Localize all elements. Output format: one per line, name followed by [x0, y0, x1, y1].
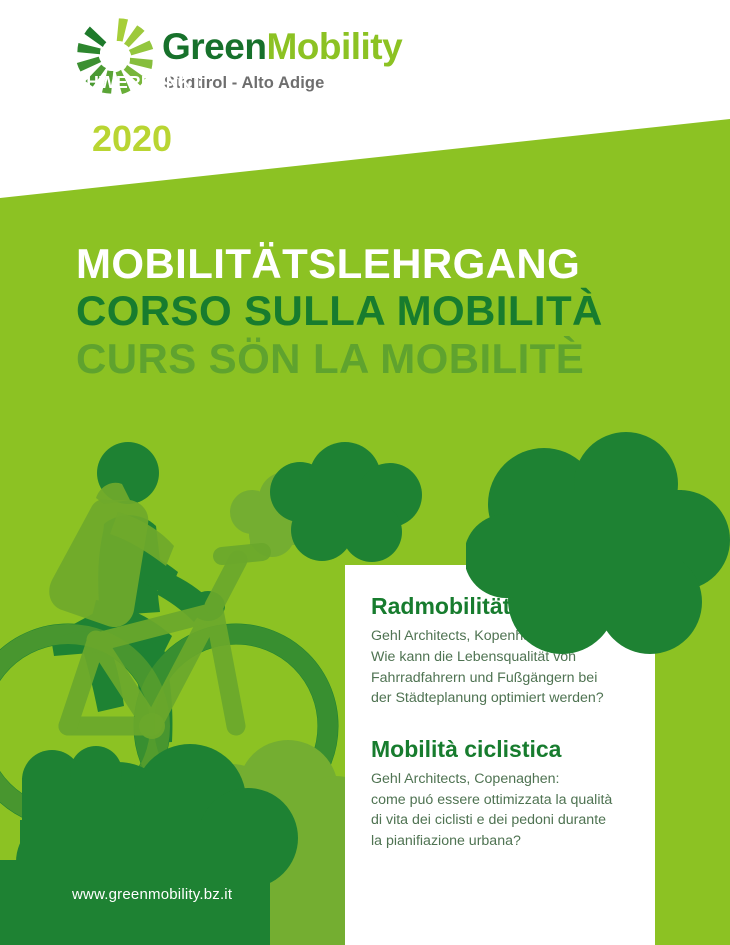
card-body-german-line-3: Fahrradfahrern und Fußgängern bei — [371, 668, 629, 689]
title-block: MOBILITÄTSLEHRGANG CORSO SULLA MOBILITÀ … — [76, 240, 603, 382]
card-body-italian-line-1: Gehl Architects, Copenaghen: — [371, 769, 629, 790]
bike-handlebar-icon — [222, 552, 262, 556]
poster-root: GreenMobility Südtirol - Alto Adige MOBI… — [0, 0, 730, 945]
card-body-italian-line-3: di vita dei ciclisti e dei pedoni durant… — [371, 810, 629, 831]
card-body-german-line-4: der Städteplanung optimiert werden? — [371, 688, 629, 709]
card-body-italian-line-2: come puó essere ottimizzata la qualità — [371, 790, 629, 811]
title-italian: CORSO SULLA MOBILITÀ — [76, 287, 603, 334]
website-url[interactable]: www.greenmobility.bz.it — [72, 886, 232, 903]
card-heading-italian: Mobilità ciclistica — [371, 736, 629, 762]
title-ladin: CURS SÖN LA MOBILITÈ — [76, 335, 603, 382]
bush-dark-small-icon — [22, 746, 122, 828]
card-body-italian-line-4: la pianifiazione urbana? — [371, 831, 629, 852]
clover-badge-icon — [466, 432, 730, 657]
card-body-italian: Gehl Architects, Copenaghen: come puó es… — [371, 769, 629, 851]
title-german: MOBILITÄTSLEHRGANG — [76, 240, 603, 287]
